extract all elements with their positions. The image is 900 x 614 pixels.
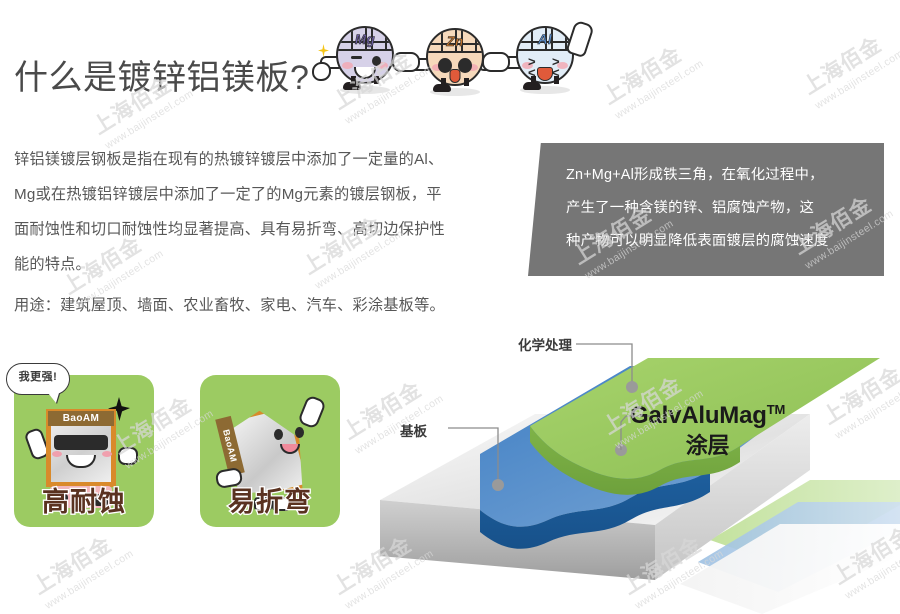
mascot-symbol-al: Al [514,32,576,47]
intro-line-4: 能的特点。 [14,247,524,282]
callout-line-2: 产生了一种含镁的锌、铝腐蚀产物，这 [566,192,866,225]
mascot-mg: Mg [334,26,396,92]
panel-face [272,427,306,457]
callout-line-1: Zn+Mg+Al形成铁三角，在氧化过程中， [566,159,866,192]
intro-line-1: 锌铝镁镀层钢板是指在现有的热镀锌镀层中添加了一定量的Al、 [14,142,524,177]
badge-bendability[interactable]: BaoAM 易折弯 [200,375,340,527]
speech-bubble: 我更强! [6,363,70,395]
dot-substrate [492,479,504,491]
intro-line-2: Mg或在热镀铝锌镀层中添加了一定了的Mg元素的镀层钢板，平 [14,177,524,212]
dot-chemical-treatment [626,381,638,393]
mascot-hand-left [312,62,331,81]
mascot-al: >< >< Al [514,26,576,92]
sunglasses-icon [54,435,108,450]
callout-box: Zn+Mg+Al形成铁三角，在氧化过程中， 产生了一种含镁的锌、铝腐蚀产物，这 … [528,143,884,276]
page-root: Mg Zn >< [0,0,900,614]
mascot-zn: Zn [424,28,486,94]
panel-arm-right [118,447,138,465]
usage-line: 用途：建筑屋顶、墙面、农业畜牧、家电、汽车、彩涂基板等。 [14,288,524,323]
intro-line-3: 面耐蚀性和切口耐蚀性均显著提高、具有易折弯、高切边保护性 [14,212,524,247]
layer-diagram: 化学处理 基板 GalvAluMagTM 涂层 [380,330,900,614]
mascot-group: Mg Zn >< [312,8,612,120]
badge-label-corrosion: 高耐蚀 [14,480,154,519]
mascot-symbol-zn: Zn [424,34,486,49]
panel-brand-label: BaoAM [48,411,114,426]
label-substrate: 基板 [400,420,427,440]
speech-bubble-text: 我更强! [7,364,69,391]
coating-brand: GalvAluMag [630,402,767,429]
badge-label-bend: 易折弯 [200,480,340,519]
coating-cn: 涂层 [630,428,785,460]
label-chemical-treatment: 化学处理 [518,334,572,354]
watermark: 上海佰金www.baijinsteel.com [796,21,900,112]
coating-tm: TM [767,402,785,417]
layer-diagram-svg [380,330,900,614]
callout-line-3: 种产物可以明显降低表面镀层的腐蚀速度 [566,225,866,258]
mascot-joined-hands-left [392,52,420,72]
watermark: 上海佰金www.baijinsteel.com [596,31,705,122]
badge-corrosion-resistance[interactable]: BaoAM 我更强! 高耐蚀 [14,375,154,527]
label-coating: GalvAluMagTM 涂层 [630,402,785,460]
mascot-joined-hands-right [482,52,510,72]
intro-text: 锌铝镁镀层钢板是指在现有的热镀锌镀层中添加了一定量的Al、 Mg或在热镀铝锌镀层… [14,142,524,323]
page-title: 什么是镀锌铝镁板? [14,60,309,97]
mascot-symbol-mg: Mg [334,32,396,47]
panel-arm-up [297,394,327,429]
watermark: 上海佰金www.baijinsteel.com [26,521,135,612]
